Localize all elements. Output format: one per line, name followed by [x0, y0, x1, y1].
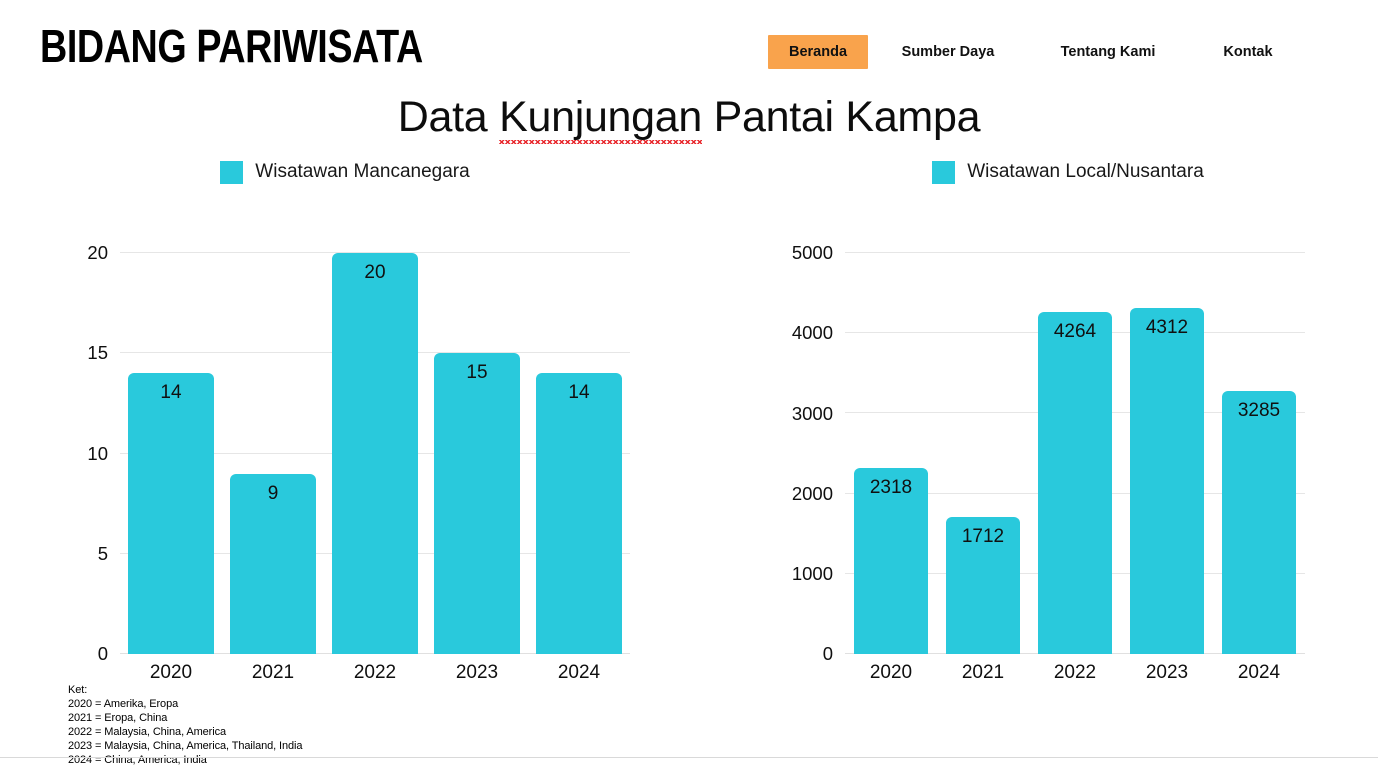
x-axis-tick-label: 2024: [1213, 662, 1305, 684]
bar[interactable]: 14: [536, 373, 622, 654]
chart-note: Ket: 2020 = Amerika, Eropa 2021 = Eropa,…: [68, 683, 302, 765]
bar-slot: 23182020: [845, 253, 937, 654]
chart-legend: Wisatawan Mancanegara: [40, 152, 640, 192]
legend-label: Wisatawan Local/Nusantara: [967, 161, 1204, 183]
bar-value-label: 15: [434, 362, 520, 384]
bar-slot: 92021: [222, 253, 324, 654]
footer-divider: [0, 757, 1378, 758]
x-axis-tick-label: 2021: [937, 662, 1029, 684]
page-title-misspelled-word: Kunjungan: [499, 93, 702, 142]
bar[interactable]: 20: [332, 253, 418, 654]
plot: 0100020003000400050002318202017122021426…: [745, 200, 1345, 692]
bar[interactable]: 9: [230, 474, 316, 654]
y-axis-tick-label: 10: [87, 443, 108, 465]
bar[interactable]: 15: [434, 353, 520, 654]
bar-value-label: 4312: [1130, 317, 1204, 339]
x-axis-tick-label: 2023: [1121, 662, 1213, 684]
bar-slot: 142024: [528, 253, 630, 654]
y-axis-tick-label: 5000: [792, 242, 833, 264]
note-line: 2022 = Malaysia, China, America: [68, 725, 302, 739]
x-axis-tick-label: 2020: [120, 662, 222, 684]
x-axis-tick-label: 2023: [426, 662, 528, 684]
nav-item-sumber-daya[interactable]: Sumber Daya: [868, 35, 1028, 69]
bar[interactable]: 1712: [946, 517, 1020, 654]
x-axis-tick-label: 2020: [845, 662, 937, 684]
chart-legend: Wisatawan Local/Nusantara: [745, 152, 1345, 192]
chart-nusantara: Wisatawan Local/Nusantara 01000200030004…: [745, 152, 1345, 697]
x-axis-tick-label: 2022: [1029, 662, 1121, 684]
nav-item-tentang-kami[interactable]: Tentang Kami: [1028, 35, 1188, 69]
y-axis-tick-label: 3000: [792, 403, 833, 425]
note-line: 2023 = Malaysia, China, America, Thailan…: [68, 739, 302, 753]
page-title: Data Kunjungan Pantai Kampa: [0, 93, 1378, 142]
bar-group: 2318202017122021426420224312202332852024: [845, 253, 1305, 654]
page-title-before: Data: [398, 93, 499, 141]
y-axis-tick-label: 0: [823, 643, 833, 665]
bar-slot: 142020: [120, 253, 222, 654]
y-axis-tick-label: 1000: [792, 563, 833, 585]
bar[interactable]: 3285: [1222, 391, 1296, 654]
bar-slot: 17122021: [937, 253, 1029, 654]
site-title: BIDANG PARIWISATA: [40, 22, 423, 70]
y-axis-tick-label: 4000: [792, 322, 833, 344]
bar-value-label: 3285: [1222, 400, 1296, 422]
page-title-after: Pantai Kampa: [702, 93, 980, 141]
chart-mancanegara: Wisatawan Mancanegara 051015201420209202…: [40, 152, 640, 697]
bar[interactable]: 2318: [854, 468, 928, 654]
y-axis-tick-label: 5: [98, 543, 108, 565]
bar-group: 14202092021202022152023142024: [120, 253, 630, 654]
bar-slot: 32852024: [1213, 253, 1305, 654]
y-axis-tick-label: 2000: [792, 483, 833, 505]
bar-value-label: 2318: [854, 477, 928, 499]
plot: 0510152014202092021202022152023142024: [40, 200, 640, 692]
legend-swatch-icon: [932, 161, 955, 184]
y-axis-tick-label: 15: [87, 342, 108, 364]
x-axis-tick-label: 2024: [528, 662, 630, 684]
main-nav: Beranda Sumber Daya Tentang Kami Kontak: [740, 32, 1340, 72]
bar[interactable]: 14: [128, 373, 214, 654]
note-line: 2020 = Amerika, Eropa: [68, 697, 302, 711]
legend-swatch-icon: [220, 161, 243, 184]
bar[interactable]: 4312: [1130, 308, 1204, 654]
bar-value-label: 9: [230, 483, 316, 505]
nav-item-beranda[interactable]: Beranda: [768, 35, 868, 69]
x-axis-tick-label: 2021: [222, 662, 324, 684]
bar-slot: 202022: [324, 253, 426, 654]
bar-slot: 42642022: [1029, 253, 1121, 654]
bar-slot: 43122023: [1121, 253, 1213, 654]
page-root: BIDANG PARIWISATA Beranda Sumber Daya Te…: [0, 0, 1378, 765]
bar-slot: 152023: [426, 253, 528, 654]
bar[interactable]: 4264: [1038, 312, 1112, 654]
bar-value-label: 14: [536, 382, 622, 404]
y-axis-tick-label: 0: [98, 643, 108, 665]
note-line: 2024 = China, America, India: [68, 753, 302, 765]
plot-area: 0100020003000400050002318202017122021426…: [845, 253, 1305, 654]
plot-area: 0510152014202092021202022152023142024: [120, 253, 630, 654]
x-axis-tick-label: 2022: [324, 662, 426, 684]
bar-value-label: 20: [332, 262, 418, 284]
bar-value-label: 4264: [1038, 321, 1112, 343]
bar-value-label: 1712: [946, 526, 1020, 548]
note-heading: Ket:: [68, 683, 302, 697]
bar-value-label: 14: [128, 382, 214, 404]
y-axis-tick-label: 20: [87, 242, 108, 264]
legend-label: Wisatawan Mancanegara: [255, 161, 469, 183]
note-line: 2021 = Eropa, China: [68, 711, 302, 725]
nav-item-kontak[interactable]: Kontak: [1188, 35, 1308, 69]
